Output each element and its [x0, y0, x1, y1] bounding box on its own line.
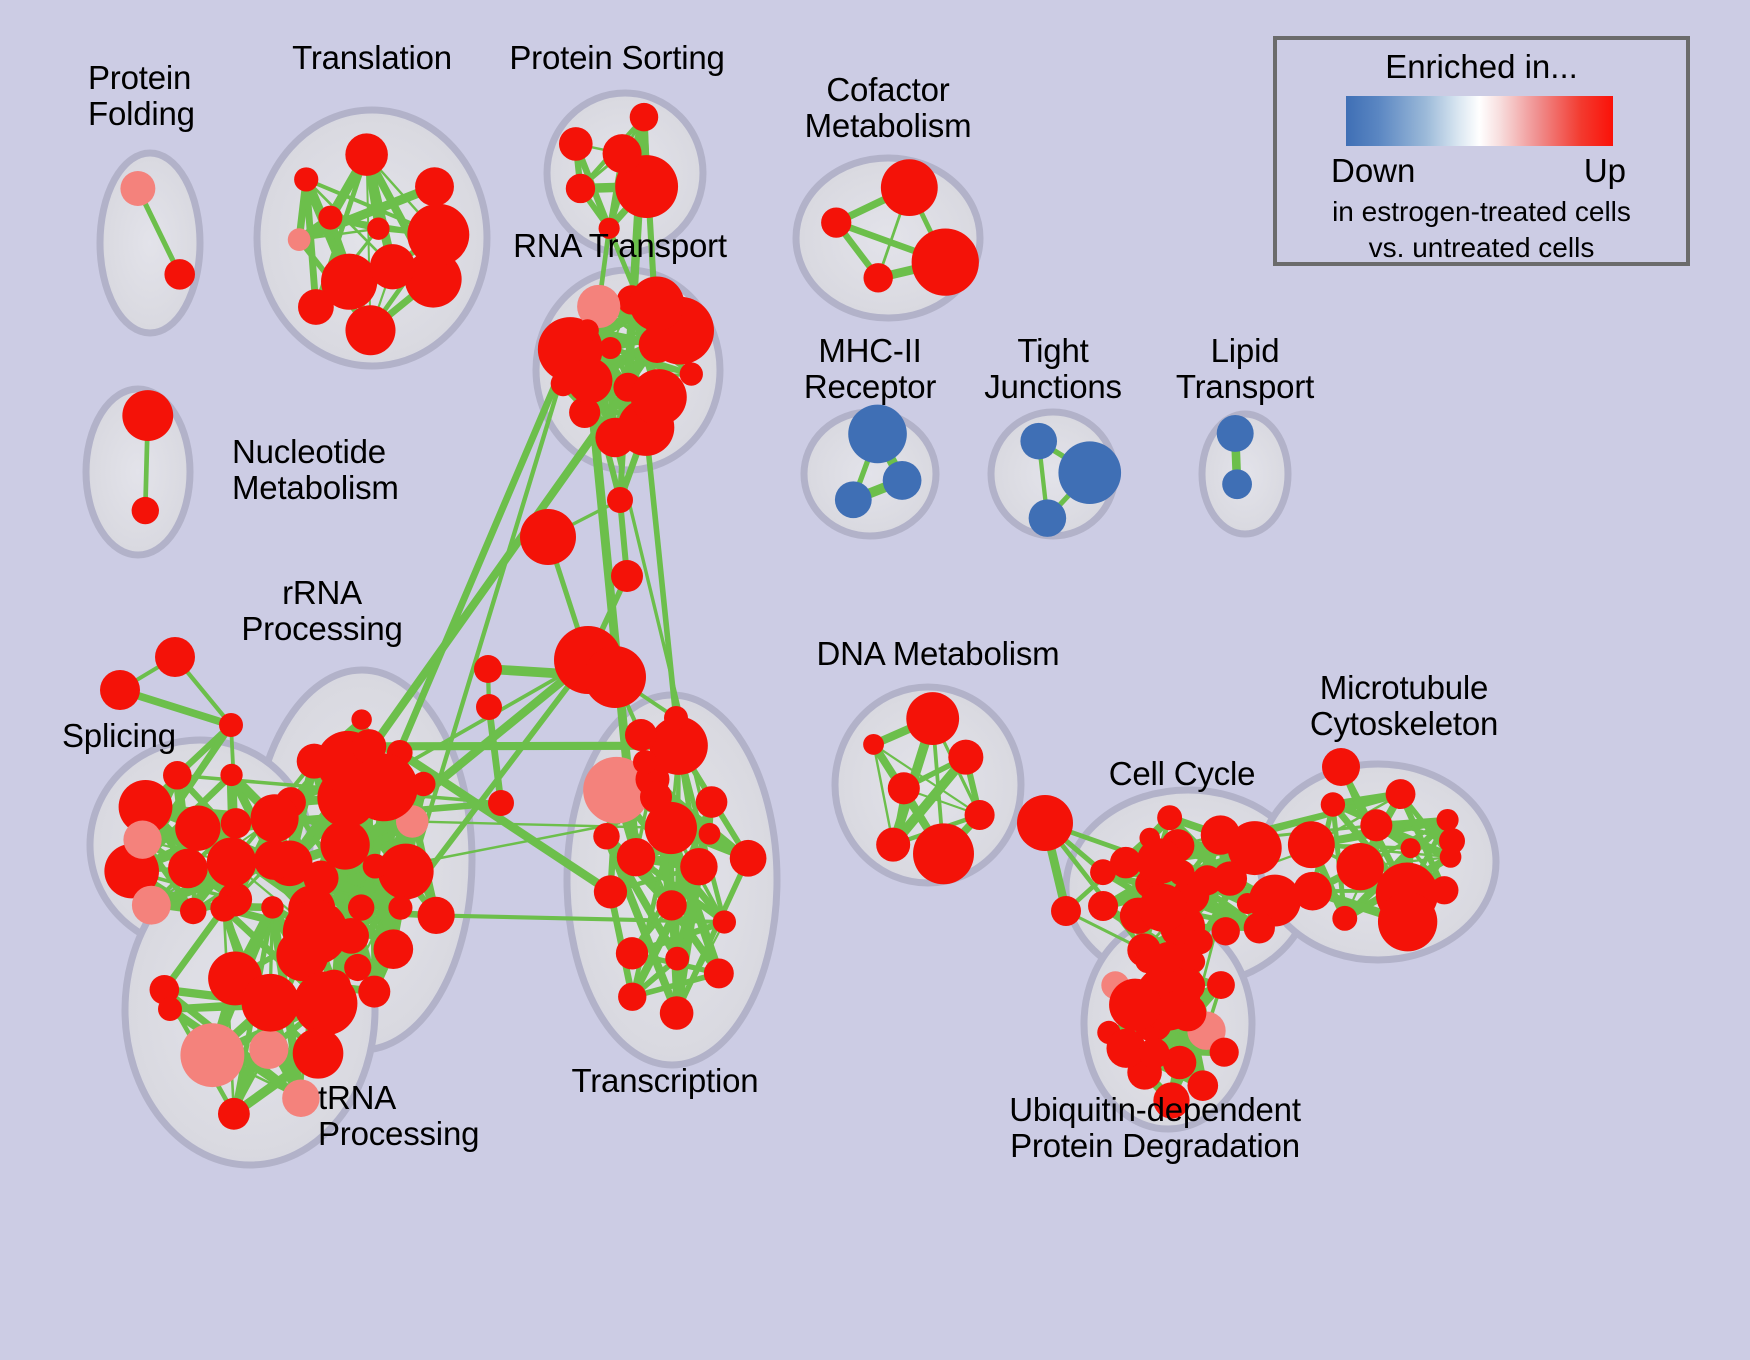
cluster-label-splicing: Splicing: [62, 718, 176, 754]
gene-set-node: [913, 823, 974, 884]
gene-set-node: [965, 800, 995, 830]
gene-set-node: [1201, 815, 1240, 854]
gene-set-node: [1436, 809, 1458, 831]
cluster-label-protein-sorting: Protein Sorting: [509, 40, 724, 76]
gene-set-node: [1207, 971, 1235, 999]
gene-set-node: [1058, 441, 1121, 504]
gene-set-node: [821, 207, 851, 237]
gene-set-node: [863, 263, 892, 292]
gene-set-node: [625, 719, 657, 751]
gene-set-node: [283, 900, 348, 965]
gene-set-node: [1157, 805, 1182, 830]
gene-set-node: [631, 369, 687, 425]
gene-set-node: [630, 276, 685, 331]
gene-set-node: [888, 772, 920, 804]
gene-set-node: [603, 134, 642, 173]
gene-set-node: [261, 896, 283, 918]
cluster-label-nucleotide-metabolism: Nucleotide Metabolism: [232, 434, 399, 505]
gene-set-node: [1192, 865, 1222, 895]
gene-set-node: [1244, 912, 1275, 943]
gene-set-node: [220, 764, 242, 786]
legend-down-label: Down: [1331, 152, 1415, 190]
gene-set-node: [415, 167, 454, 206]
gene-set-node: [559, 127, 593, 161]
gene-set-node: [407, 204, 469, 266]
gene-set-node: [848, 405, 907, 464]
color-gradient-bar: [1346, 96, 1613, 146]
gene-set-node: [218, 1098, 250, 1130]
gene-set-node: [599, 337, 621, 359]
gene-set-node: [288, 228, 311, 251]
gene-set-node: [640, 781, 672, 813]
gene-set-node: [155, 637, 195, 677]
gene-set-node: [1139, 1038, 1170, 1069]
gene-set-node: [1430, 876, 1458, 904]
gene-set-node: [1332, 906, 1357, 931]
cluster-label-cell-cycle: Cell Cycle: [1109, 756, 1256, 792]
gene-set-node: [1090, 859, 1116, 885]
gene-set-node: [374, 929, 414, 969]
gene-set-node: [680, 848, 717, 885]
gene-set-node: [1217, 415, 1254, 452]
gene-set-node: [242, 974, 300, 1032]
gene-set-node: [660, 996, 694, 1030]
gene-set-node: [1237, 893, 1258, 914]
gene-set-node: [1401, 838, 1421, 858]
gene-set-node: [1188, 929, 1213, 954]
legend-subtitle-line-2: vs. untreated cells: [1277, 232, 1686, 264]
gene-set-node: [1152, 942, 1183, 973]
gene-set-node: [344, 954, 371, 981]
gene-set-node: [254, 840, 294, 880]
gene-set-node: [363, 854, 388, 879]
gene-set-node: [378, 844, 434, 900]
gene-set-node: [294, 167, 318, 191]
gene-set-node: [551, 371, 576, 396]
enrichment-map-figure: Protein Folding Translation Protein Sort…: [0, 0, 1750, 1360]
gene-set-node: [617, 838, 655, 876]
gene-set-node: [948, 740, 983, 775]
gene-set-node: [282, 1079, 319, 1116]
gene-set-node: [180, 898, 206, 924]
cluster-label-rrna-processing: rRNA Processing: [241, 575, 402, 646]
cluster-label-translation: Translation: [292, 40, 452, 76]
gene-set-node: [680, 362, 703, 385]
gene-set-node: [1222, 469, 1252, 499]
gene-set-node: [1051, 896, 1081, 926]
gene-set-node: [1139, 884, 1187, 932]
gene-set-node: [1210, 1038, 1239, 1067]
gene-set-node: [730, 840, 767, 877]
gene-set-node: [251, 794, 299, 842]
gene-set-node: [164, 259, 195, 290]
gene-set-node: [351, 709, 371, 729]
gene-set-node: [1029, 499, 1067, 537]
gene-set-node: [566, 174, 595, 203]
gene-set-node: [207, 837, 256, 886]
gene-set-node: [699, 823, 721, 845]
gene-set-node: [488, 790, 514, 816]
gene-set-node: [912, 228, 979, 295]
cluster-label-microtubule-cytoskeleton: Microtubule Cytoskeleton: [1310, 670, 1498, 741]
gene-set-node: [293, 1028, 344, 1079]
gene-set-node: [696, 786, 728, 818]
gene-set-node: [418, 897, 455, 934]
gene-set-node: [158, 997, 182, 1021]
cluster-label-mhc-ii-receptor: MHC-II Receptor: [804, 333, 936, 404]
gene-set-node: [1439, 828, 1465, 854]
gene-set-node: [881, 159, 938, 216]
gene-set-node: [210, 895, 237, 922]
gene-set-node: [474, 655, 502, 683]
gene-set-node: [175, 805, 220, 850]
gene-set-node: [388, 896, 412, 920]
gene-set-node: [249, 1030, 288, 1069]
gene-set-node: [168, 849, 208, 889]
cluster-label-ubiquitin-degradation: Ubiquitin-dependent Protein Degradation: [1009, 1092, 1301, 1163]
gene-set-node: [219, 713, 243, 737]
gene-set-node: [594, 875, 627, 908]
gene-set-node: [221, 808, 251, 838]
gene-set-node: [1360, 809, 1392, 841]
gene-set-node: [611, 560, 643, 592]
gene-set-node: [298, 289, 334, 325]
gene-set-node: [1169, 860, 1195, 886]
gene-set-node: [100, 670, 140, 710]
gene-set-node: [835, 481, 872, 518]
gene-set-node: [132, 497, 159, 524]
gene-set-node: [607, 487, 633, 513]
cluster-label-dna-metabolism: DNA Metabolism: [817, 636, 1060, 672]
legend-up-label: Up: [1584, 152, 1626, 190]
legend-title: Enriched in...: [1277, 48, 1686, 86]
gene-set-node: [411, 772, 435, 796]
gene-set-node: [476, 694, 502, 720]
cluster-label-rna-transport: RNA Transport: [513, 228, 727, 264]
gene-set-node: [120, 171, 155, 206]
gene-set-node: [367, 218, 389, 240]
gene-set-node: [345, 133, 388, 176]
legend-subtitle-line-1: in estrogen-treated cells: [1277, 196, 1686, 228]
gene-set-node: [1322, 748, 1360, 786]
gene-set-node: [576, 319, 599, 342]
gene-set-node: [883, 461, 922, 500]
cluster-label-tight-junctions: Tight Junctions: [984, 333, 1122, 404]
gene-set-node: [303, 861, 338, 896]
gene-set-node: [1017, 795, 1073, 851]
gene-set-node: [370, 244, 415, 289]
gene-set-node: [704, 958, 734, 988]
gene-set-node: [345, 305, 395, 355]
gene-set-node: [1336, 843, 1383, 890]
gene-set-node: [664, 706, 688, 730]
gene-set-node: [348, 894, 374, 920]
gene-set-node: [163, 761, 192, 790]
gene-set-node: [713, 910, 736, 933]
gene-set-node: [180, 1023, 244, 1087]
gene-set-node: [630, 103, 659, 132]
gene-set-node: [122, 390, 173, 441]
gene-set-node: [1020, 423, 1057, 460]
gene-set-node: [595, 418, 635, 458]
gene-set-node: [132, 886, 171, 925]
gene-set-node: [876, 828, 910, 862]
cluster-label-lipid-transport: Lipid Transport: [1176, 333, 1314, 404]
gene-set-node: [1293, 872, 1332, 911]
gene-set-node: [318, 206, 342, 230]
gene-set-node: [358, 976, 390, 1008]
gene-set-node: [863, 734, 884, 755]
gene-set-node: [665, 947, 689, 971]
cluster-label-transcription: Transcription: [572, 1063, 759, 1099]
cluster-label-protein-folding: Protein Folding: [88, 60, 195, 131]
gene-set-node: [584, 646, 646, 708]
gene-set-node: [520, 509, 576, 565]
gene-set-node: [616, 937, 648, 969]
legend: Enriched in... Down Up in estrogen-treat…: [1273, 36, 1690, 266]
gene-set-node: [1386, 779, 1416, 809]
gene-set-node: [294, 971, 358, 1035]
cluster-label-cofactor-metabolism: Cofactor Metabolism: [805, 72, 972, 143]
gene-set-node: [1088, 891, 1118, 921]
gene-set-node: [352, 729, 387, 764]
gene-set-node: [1288, 821, 1335, 868]
gene-set-node: [1378, 892, 1437, 951]
gene-set-node: [1321, 792, 1345, 816]
gene-set-node: [906, 692, 959, 745]
gene-set-node: [123, 821, 161, 859]
gene-set-node: [618, 983, 646, 1011]
gene-set-node: [593, 823, 619, 849]
cluster-label-trna-processing: tRNA Processing: [318, 1080, 479, 1151]
gene-set-node: [656, 890, 686, 920]
gene-set-node: [1212, 917, 1240, 945]
gene-set-node: [633, 750, 657, 774]
